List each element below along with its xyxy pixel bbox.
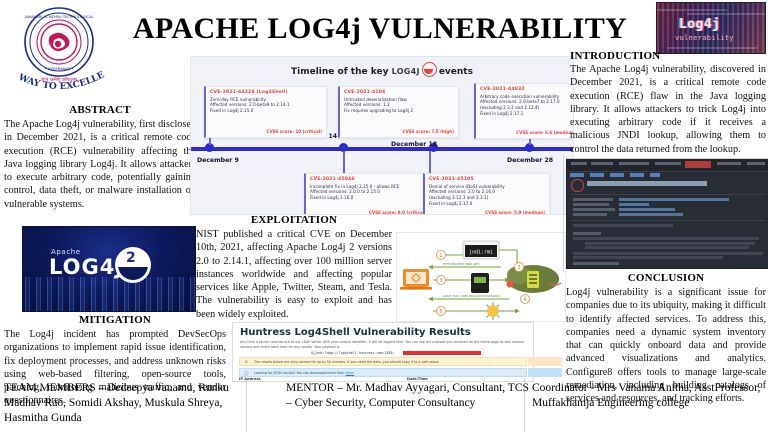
banner-bar-texture bbox=[23, 277, 195, 311]
svg-text:LDAP / TCP / 1389 (MALICIOUS P: LDAP / TCP / 1389 (MALICIOUS PAYLOAD) bbox=[443, 294, 500, 298]
timeline-title-prefix: Timeline of the key bbox=[291, 67, 388, 77]
log4j-cup-icon bbox=[422, 62, 437, 77]
log4j-attack-flow-diagram: jndi:rmi bbox=[396, 232, 566, 322]
huntress-results-screenshot: Huntress Log4Shell Vulnerability Results… bbox=[232, 322, 534, 382]
log4j-mark-glyph: 2 bbox=[126, 250, 136, 266]
legend-chip-info bbox=[528, 368, 562, 377]
timeline-card-line: Fixed in Log4j 2.17.0 bbox=[429, 201, 545, 207]
svg-text:4: 4 bbox=[523, 297, 526, 303]
timeline-card-score: CVSS score: 5.9 (medium) bbox=[485, 210, 545, 215]
timeline-card-cve: CVE-2021-45105 bbox=[429, 177, 545, 182]
svg-text:2: 2 bbox=[517, 265, 520, 271]
huntress-info-alert: ⓘ Looking for JSON results? You can down… bbox=[239, 368, 527, 377]
timeline-date-4: December 28 bbox=[507, 157, 553, 164]
timeline-card: CVE-2021-45046 Incomplete fix in Log4j 2… bbox=[304, 173, 431, 215]
abstract-heading: ABSTRACT bbox=[4, 104, 196, 116]
svg-text:HTTP REQUEST (JNDI GET): HTTP REQUEST (JNDI GET) bbox=[443, 262, 480, 266]
svg-text:• HYDERABAD •: • HYDERABAD • bbox=[45, 67, 74, 71]
timeline-panel: Timeline of the key LOG4Jevents December… bbox=[190, 56, 574, 215]
huntress-paragraph: Any time a server reaches out to our LDA… bbox=[240, 340, 526, 351]
timeline-card-cve: CVE-2021-44832 bbox=[480, 87, 574, 92]
huntress-download-link[interactable]: here! bbox=[346, 371, 355, 375]
coordinator-credit: Coordinator - Mrs Vanama Anitha, AsstPro… bbox=[532, 381, 768, 411]
glitch-caption: Log4j bbox=[679, 17, 721, 32]
timeline-card-line: Fixed in Log4j 2.16.0 bbox=[310, 195, 426, 201]
legend-chip-warning bbox=[528, 357, 562, 366]
university-seal: JAWAHARLAL NEHRU TECHNOLOGICAL • HYDERAB… bbox=[10, 4, 108, 92]
poster-canvas: JAWAHARLAL NEHRU TECHNOLOGICAL • HYDERAB… bbox=[0, 0, 768, 433]
timeline-card-line: Fixed in Log4j 2.15.0 bbox=[210, 108, 322, 114]
exploitation-body: NIST published a critical CVE on Decembe… bbox=[196, 228, 392, 321]
timeline-stem-5 bbox=[343, 151, 345, 173]
timeline-stem-6 bbox=[429, 151, 431, 173]
banner-wordmark: LOG4J bbox=[49, 255, 124, 279]
introduction-body: The Apache Log4j vulnerability, discover… bbox=[570, 63, 766, 156]
log4j-mark-icon: 2 bbox=[115, 247, 151, 283]
timeline-card: CVE-2021-4104 Untrusted deserialization … bbox=[338, 86, 459, 138]
severity-badge-icon bbox=[571, 179, 584, 192]
timeline-title-suffix: events bbox=[439, 67, 473, 77]
dark-heading-bar bbox=[587, 181, 707, 186]
timeline-card-line: Fix requires upgrading to Log4j 2 bbox=[344, 108, 454, 114]
huntress-info-text: Looking for JSON results? You can downlo… bbox=[254, 371, 345, 375]
glitch-subcaption: vulnerability bbox=[675, 34, 734, 42]
mentor-credit: MENTOR – Mr. Madhav Ayyagari, Consultant… bbox=[286, 381, 534, 411]
huntress-payload: ${jndi:ldap://log4shell.huntress.com:138… bbox=[311, 351, 394, 355]
timeline-card-cve: CVE-2021-45046 bbox=[310, 177, 426, 182]
svg-text:jndi:rmi: jndi:rmi bbox=[469, 250, 493, 256]
timeline-date-1: December 9 bbox=[197, 157, 239, 164]
abstract-body: The Apache Log4j vulnerability, first di… bbox=[4, 118, 196, 211]
exploitation-heading: EXPLOITATION bbox=[196, 214, 392, 226]
timeline-card: CVE-2021-44228 (Log4Shell) Zero-day RCE … bbox=[204, 86, 327, 138]
timeline-date-3: December 18 bbox=[391, 141, 437, 148]
dark-tabs[interactable] bbox=[570, 173, 660, 177]
svg-text:5: 5 bbox=[439, 309, 442, 315]
huntress-redaction-bar bbox=[403, 351, 481, 355]
huntress-title: Huntress Log4Shell Vulnerability Results bbox=[240, 327, 471, 338]
huntress-warning-alert: ⚠ The results below are only cached for … bbox=[239, 357, 527, 366]
svg-text:JAWAHARLAL NEHRU TECHNOLOGICAL: JAWAHARLAL NEHRU TECHNOLOGICAL bbox=[23, 15, 93, 19]
introduction-section: INTRODUCTION The Apache Log4j vulnerabil… bbox=[570, 50, 766, 156]
timeline-card-score: CVSS score: 10 (critical) bbox=[266, 129, 322, 134]
mitigation-heading: MITIGATION bbox=[4, 314, 226, 326]
cve-detail-dark-screenshot bbox=[566, 159, 768, 269]
timeline-card-line: Fixed in Log4j 2.17.1 bbox=[480, 111, 574, 117]
svg-text:3: 3 bbox=[439, 278, 442, 284]
timeline-title: Timeline of the key LOG4Jevents bbox=[191, 62, 573, 77]
timeline-card: CVE-2021-45105 Denial of service (DoS) v… bbox=[423, 173, 550, 215]
timeline-card-cve: CVE-2021-4104 bbox=[344, 90, 454, 95]
timeline-title-brand: LOG4J bbox=[392, 67, 420, 76]
page-title: APACHE LOG4j VULNERABILITY bbox=[120, 8, 640, 50]
conclusion-heading: CONCLUSION bbox=[566, 272, 766, 284]
abstract-section: ABSTRACT The Apache Log4j vulnerability,… bbox=[4, 104, 196, 211]
svg-text:1: 1 bbox=[439, 253, 442, 259]
introduction-heading: INTRODUCTION bbox=[570, 50, 766, 62]
footer-separator-1 bbox=[246, 378, 247, 432]
team-members: TEAM MEMBERS – Dedeepya vanamu, Runku Ma… bbox=[4, 381, 244, 426]
timeline-card-cve: CVE-2021-44228 (Log4Shell) bbox=[210, 90, 322, 95]
timeline-card-score: CVSS score: 7.5 (high) bbox=[403, 129, 454, 134]
timeline-card-score: CVSS score: 6.6 (medium) bbox=[516, 130, 574, 135]
footer-separator-2 bbox=[524, 378, 525, 432]
right-column-separator bbox=[563, 155, 564, 273]
warning-triangle-icon: ⚠ bbox=[244, 360, 248, 365]
huntress-warning-text: The results below are only cached for up… bbox=[254, 360, 439, 364]
timeline-card: CVE-2021-44832 Arbitrary code execution … bbox=[474, 83, 574, 139]
log4j-glitch-image: Log4j vulnerability bbox=[656, 2, 766, 54]
exploitation-section: EXPLOITATION NIST published a critical C… bbox=[196, 214, 392, 321]
apache-log4j-logo-banner: Apache LOG4J 2 bbox=[22, 226, 196, 312]
right-column-rule bbox=[566, 158, 768, 159]
timeline-axis bbox=[191, 147, 573, 151]
